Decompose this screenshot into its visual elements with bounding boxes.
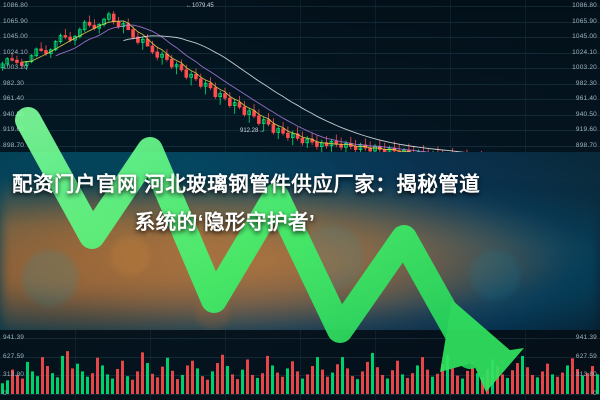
price-axis-tick-right: 1045.00 [572, 33, 597, 40]
price-annotation: 912.28→ [240, 128, 264, 134]
price-axis-tick-right: 940.50 [576, 111, 597, 118]
price-axis-tick-left: 1065.90 [3, 18, 28, 25]
volume-axis-tick-right: 941.39 [576, 334, 597, 341]
price-candlestick-series [0, 0, 600, 152]
volume-axis-tick-left: 313.80 [3, 371, 24, 378]
price-axis-tick-right: 898.70 [576, 142, 597, 149]
price-chart-panel: 1086.801065.901045.001024.101003.20982.3… [0, 0, 600, 152]
price-axis-tick-right: 1003.20 [572, 64, 597, 71]
volume-axis-tick-left: 627.59 [3, 353, 24, 360]
price-axis-tick-right: 919.60 [576, 126, 597, 133]
price-axis-tick-left: 1003.20 [3, 64, 28, 71]
headline: 配资门户官网 河北玻璃钢管件供应厂家：揭秘管道 系统的‘隐形守护者’ [12, 166, 588, 242]
bokeh-dot [196, 296, 230, 330]
price-axis-tick-right: 1065.90 [572, 18, 597, 25]
price-axis-tick-left: 940.50 [3, 111, 24, 118]
volume-axis-tick-right: 627.59 [576, 353, 597, 360]
volume-bar-series [0, 330, 600, 400]
bokeh-dot [22, 250, 78, 306]
price-axis-tick-right: 1024.10 [572, 49, 597, 56]
bokeh-dot [110, 236, 150, 276]
volume-axis-tick-left: 941.39 [3, 334, 24, 341]
price-axis-tick-left: 898.70 [3, 142, 24, 149]
price-axis-tick-right: 982.30 [576, 80, 597, 87]
price-axis-tick-left: 919.60 [3, 126, 24, 133]
headline-line-1: 配资门户官网 河北玻璃钢管件供应厂家：揭秘管道 [12, 166, 588, 204]
volume-chart-panel: 941.39627.59313.800 941.39627.59313.800 [0, 330, 600, 400]
bokeh-dot [470, 250, 520, 300]
price-axis-tick-left: 1024.10 [3, 49, 28, 56]
screenshot-stage: 1086.801065.901045.001024.101003.20982.3… [0, 0, 600, 400]
volume-axis-tick-left: 0 [3, 390, 7, 397]
price-annotation: ←1079.45 [186, 3, 214, 9]
price-axis-tick-left: 961.40 [3, 95, 24, 102]
price-axis-tick-left: 1045.00 [3, 33, 28, 40]
price-axis-tick-left: 1086.80 [3, 2, 28, 9]
price-axis-tick-right: 961.40 [576, 95, 597, 102]
price-axis-tick-left: 982.30 [3, 80, 24, 87]
volume-axis-tick-right: 313.80 [576, 371, 597, 378]
volume-axis-tick-right: 0 [593, 390, 597, 397]
headline-line-2: 系统的‘隐形守护者’ [12, 204, 588, 242]
price-axis-tick-right: 1086.80 [572, 2, 597, 9]
